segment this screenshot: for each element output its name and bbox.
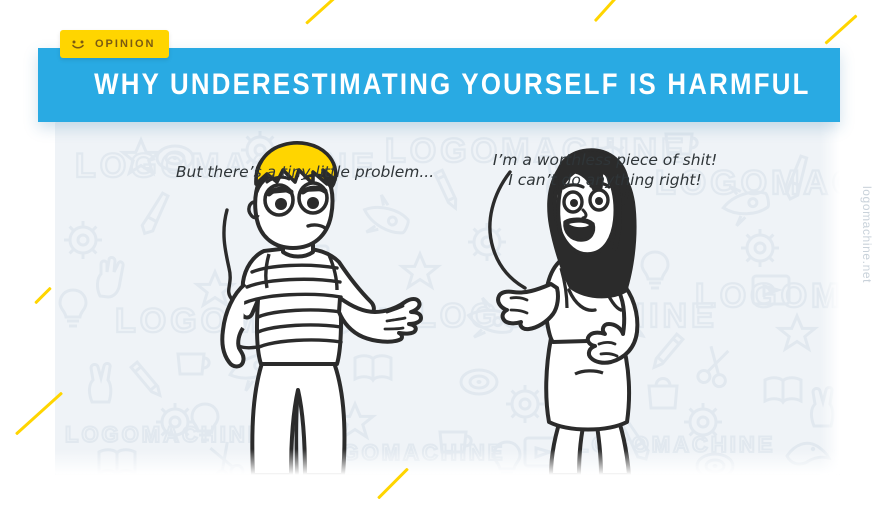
speech-text-left: But there’s a tiny little problem... xyxy=(140,162,470,182)
accent-slash-top-2 xyxy=(594,0,624,22)
opinion-badge[interactable]: OPINION xyxy=(60,30,169,58)
screenshot-root: LOGOMACHINE LOGOMACHINE xyxy=(0,0,880,505)
page-title: WHY UNDERESTIMATING YOURSELF IS HARMFUL xyxy=(94,68,784,102)
opinion-badge-label: OPINION xyxy=(95,38,155,50)
speech-text-right: I’m a worthless piece of shit! I can’t d… xyxy=(455,150,755,190)
man-character xyxy=(222,143,421,475)
watermark-logomachine: logomachine.net xyxy=(860,186,874,283)
comic-panel: LOGOMACHINE LOGOMACHINE xyxy=(55,122,840,475)
smiley-face-icon xyxy=(70,38,86,50)
woman-character xyxy=(498,150,637,475)
title-banner: WHY UNDERESTIMATING YOURSELF IS HARMFUL xyxy=(38,48,840,122)
accent-slash-left-1 xyxy=(34,287,52,305)
accent-slash-top-1 xyxy=(305,0,343,25)
accent-slash-top-right xyxy=(824,14,857,44)
